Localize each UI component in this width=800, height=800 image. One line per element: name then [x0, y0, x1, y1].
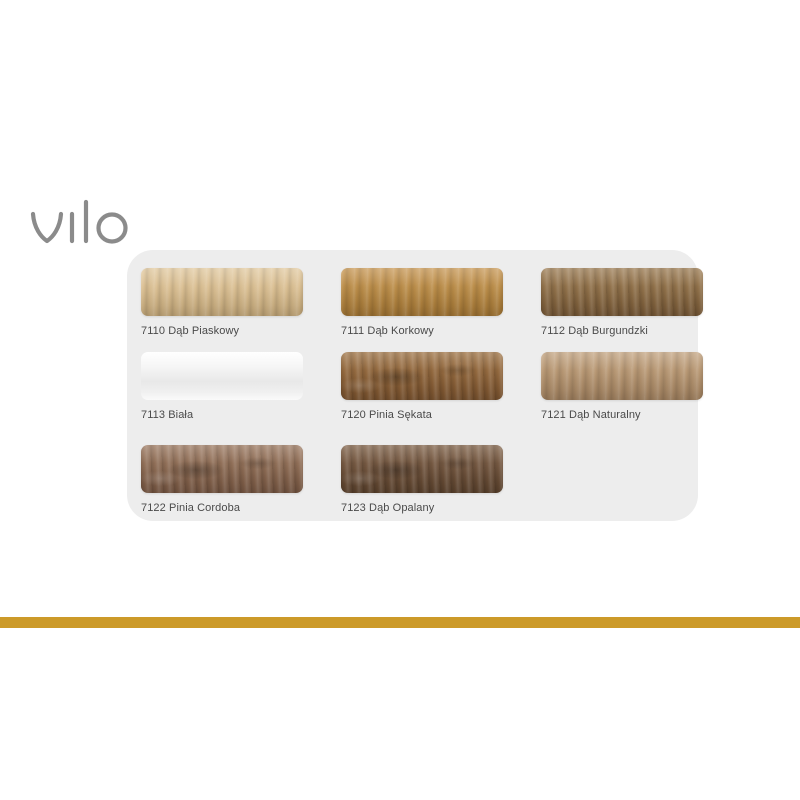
wood-swatch-icon[interactable]: [141, 445, 303, 493]
white-swatch-icon[interactable]: [141, 352, 303, 400]
swatch-item[interactable]: 7111 Dąb Korkowy: [341, 268, 503, 337]
swatch-sheen-overlay: [341, 445, 503, 493]
swatch-label: 7113 Biała: [141, 409, 303, 421]
swatch-item[interactable]: 7113 Biała: [141, 352, 303, 421]
swatch-item[interactable]: 7121 Dąb Naturalny: [541, 352, 703, 421]
swatch-sheen-overlay: [541, 352, 703, 400]
wood-swatch-icon[interactable]: [141, 268, 303, 316]
swatch-sheen-overlay: [141, 445, 303, 493]
swatch-label: 7122 Pinia Cordoba: [141, 502, 303, 514]
swatch-item[interactable]: 7123 Dąb Opalany: [341, 445, 503, 514]
swatch-label: 7112 Dąb Burgundzki: [541, 325, 703, 337]
swatch-item[interactable]: 7112 Dąb Burgundzki: [541, 268, 703, 337]
swatch-grid: 7110 Dąb Piaskowy 7111 Dąb Korkowy 7112 …: [135, 266, 698, 516]
swatch-label: 7110 Dąb Piaskowy: [141, 325, 303, 337]
swatch-sheen-overlay: [141, 268, 303, 316]
swatch-item[interactable]: 7110 Dąb Piaskowy: [141, 268, 303, 337]
swatch-sheen-overlay: [541, 268, 703, 316]
swatch-label: 7121 Dąb Naturalny: [541, 409, 703, 421]
swatch-card: 7110 Dąb Piaskowy 7111 Dąb Korkowy 7112 …: [127, 250, 698, 521]
wood-swatch-icon[interactable]: [541, 268, 703, 316]
swatch-label: 7120 Pinia Sękata: [341, 409, 503, 421]
wood-swatch-icon[interactable]: [341, 445, 503, 493]
swatch-sheen-overlay: [341, 268, 503, 316]
swatch-item[interactable]: 7120 Pinia Sękata: [341, 352, 503, 421]
panel-sheen-overlay: [141, 352, 303, 400]
swatch-item[interactable]: 7122 Pinia Cordoba: [141, 445, 303, 514]
brand-logo: [28, 196, 138, 252]
wood-swatch-icon[interactable]: [341, 268, 503, 316]
wood-swatch-icon[interactable]: [341, 352, 503, 400]
swatch-label: 7111 Dąb Korkowy: [341, 325, 503, 337]
swatch-label: 7123 Dąb Opalany: [341, 502, 503, 514]
accent-bar: [0, 617, 800, 628]
wood-swatch-icon[interactable]: [541, 352, 703, 400]
swatch-sheen-overlay: [341, 352, 503, 400]
